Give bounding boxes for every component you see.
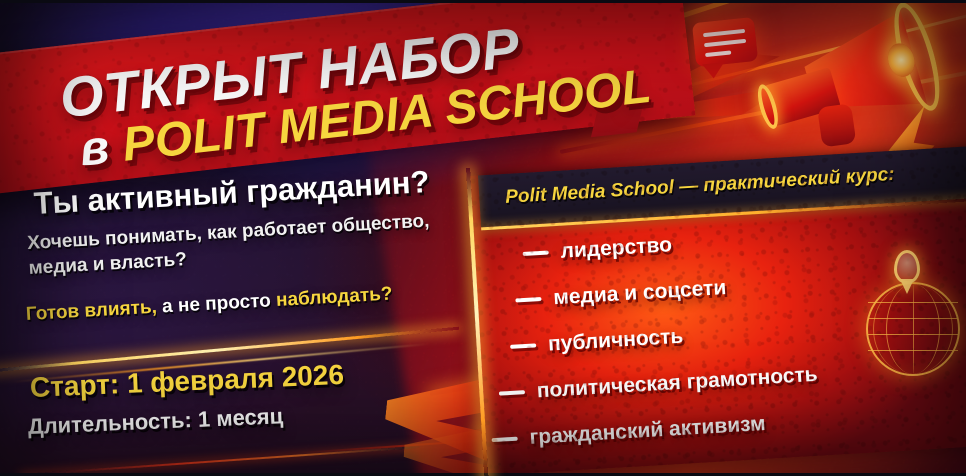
cta-part-3: наблюдать? xyxy=(275,284,393,311)
duration: Длительность: 1 месяц xyxy=(27,403,283,440)
dash-bullet-icon xyxy=(523,250,549,256)
left-content-column: Ты активный гражданин? Хочешь понимать, … xyxy=(0,176,470,476)
duration-label: Длительность: xyxy=(27,407,198,439)
start-date: Старт: 1 февраля 2026 xyxy=(29,359,344,404)
list-item-label: медиа и соцсети xyxy=(553,276,727,310)
globe-icon xyxy=(866,282,960,376)
start-date-value: 1 февраля 2026 xyxy=(126,359,344,399)
cta-part-2: а не просто xyxy=(156,290,276,318)
top-border xyxy=(0,0,966,3)
dash-bullet-icon xyxy=(515,297,541,303)
dash-bullet-icon xyxy=(510,343,536,349)
dash-bullet-icon xyxy=(499,390,525,396)
cta-part-1: Готов влиять, xyxy=(25,297,157,325)
course-panel-title: Polit Media School — практический курс: xyxy=(505,164,895,209)
bottom-divider xyxy=(20,446,419,476)
start-date-label: Старт: xyxy=(29,368,127,403)
course-panel-underline xyxy=(481,198,966,231)
sub-question: Хочешь понимать, как работает общество, … xyxy=(27,209,432,282)
list-item-label: политическая грамотность xyxy=(536,363,818,404)
list-item-label: публичность xyxy=(547,325,684,357)
headline-prefix: в xyxy=(77,119,126,176)
dash-bullet-icon xyxy=(492,437,518,443)
cta-question: Готов влиять, а не просто наблюдать? xyxy=(25,284,393,327)
duration-value: 1 месяц xyxy=(197,403,283,432)
location-pin-icon xyxy=(894,250,920,284)
list-item-label: лидерство xyxy=(560,233,673,264)
promo-banner: ОТКРЫТ НАБОР в POLIT MEDIA SCHOOL Ты акт… xyxy=(0,0,966,476)
list-item: лидерство xyxy=(473,203,966,280)
list-item-label: гражданский активизм xyxy=(529,412,766,450)
